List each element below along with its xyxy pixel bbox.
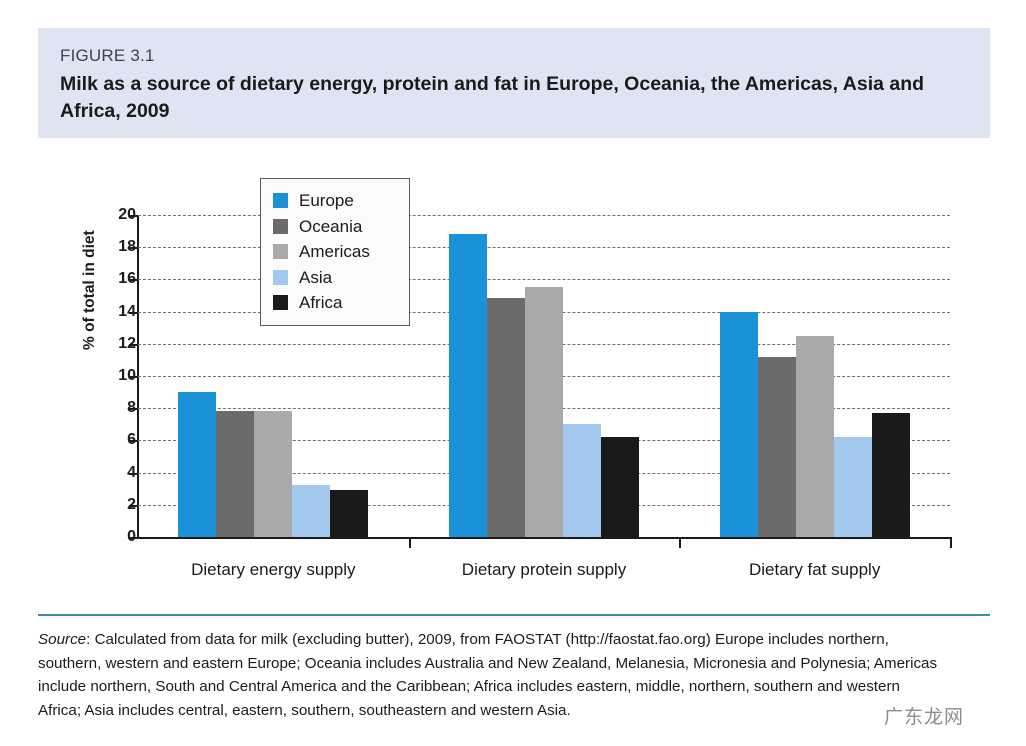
y-axis-tick-label: 18 [92,239,136,255]
legend-label: Asia [299,269,332,286]
legend-item-oceania[interactable]: Oceania [273,214,399,240]
legend-swatch-icon [273,193,288,208]
figure-title: Milk as a source of dietary energy, prot… [60,71,960,123]
figure-container: FIGURE 3.1 Milk as a source of dietary e… [0,0,1026,746]
x-axis-tick [950,537,952,548]
bar[interactable] [487,298,525,537]
legend-label: Europe [299,192,354,209]
x-axis-baseline [138,537,950,539]
x-axis-group-label: Dietary energy supply [191,560,355,580]
bar[interactable] [796,336,834,537]
y-axis-tick-label: 20 [92,207,136,223]
y-axis-tick-label: 6 [92,432,136,448]
source-note: Source: Calculated from data for milk (e… [38,628,938,722]
y-axis-tick-label: 2 [92,497,136,513]
legend-swatch-icon [273,295,288,310]
bar[interactable] [563,424,601,537]
x-axis-tick [409,537,411,548]
bar[interactable] [758,357,796,537]
chart-legend: EuropeOceaniaAmericasAsiaAfrica [260,178,410,326]
bar[interactable] [834,437,872,537]
y-axis-tick-label: 14 [92,304,136,320]
bar[interactable] [216,411,254,537]
legend-label: Oceania [299,218,362,235]
bar[interactable] [449,234,487,537]
legend-item-asia[interactable]: Asia [273,265,399,291]
source-text: : Calculated from data for milk (excludi… [38,631,937,719]
legend-item-americas[interactable]: Americas [273,239,399,265]
legend-swatch-icon [273,244,288,259]
bar[interactable] [292,485,330,537]
source-label: Source [38,631,86,648]
x-axis-group-label: Dietary fat supply [749,560,880,580]
bar-group [449,215,639,537]
bar[interactable] [178,392,216,537]
x-axis-tick [679,537,681,548]
legend-label: Americas [299,243,370,260]
bar[interactable] [601,437,639,537]
y-axis-tick-label: 0 [92,529,136,545]
bar[interactable] [254,411,292,537]
legend-swatch-icon [273,270,288,285]
y-axis-tick-label: 8 [92,400,136,416]
watermark: 广东龙网 [884,702,964,729]
bar[interactable] [720,312,758,537]
bar-group [720,215,910,537]
figure-header-band: FIGURE 3.1 Milk as a source of dietary e… [38,28,990,138]
legend-item-europe[interactable]: Europe [273,188,399,214]
bar[interactable] [872,413,910,537]
bar[interactable] [525,287,563,537]
chart-area: % of total in diet 02468101214161820Diet… [38,150,990,605]
y-axis-tick-label: 10 [92,368,136,384]
figure-number: FIGURE 3.1 [60,46,968,66]
legend-swatch-icon [273,219,288,234]
source-divider [38,614,990,616]
y-axis-tick-label: 4 [92,465,136,481]
x-axis-group-label: Dietary protein supply [462,560,626,580]
bar[interactable] [330,490,368,537]
y-axis-tick-label: 12 [92,336,136,352]
legend-item-africa[interactable]: Africa [273,290,399,316]
legend-label: Africa [299,294,342,311]
y-axis-tick-label: 16 [92,271,136,287]
